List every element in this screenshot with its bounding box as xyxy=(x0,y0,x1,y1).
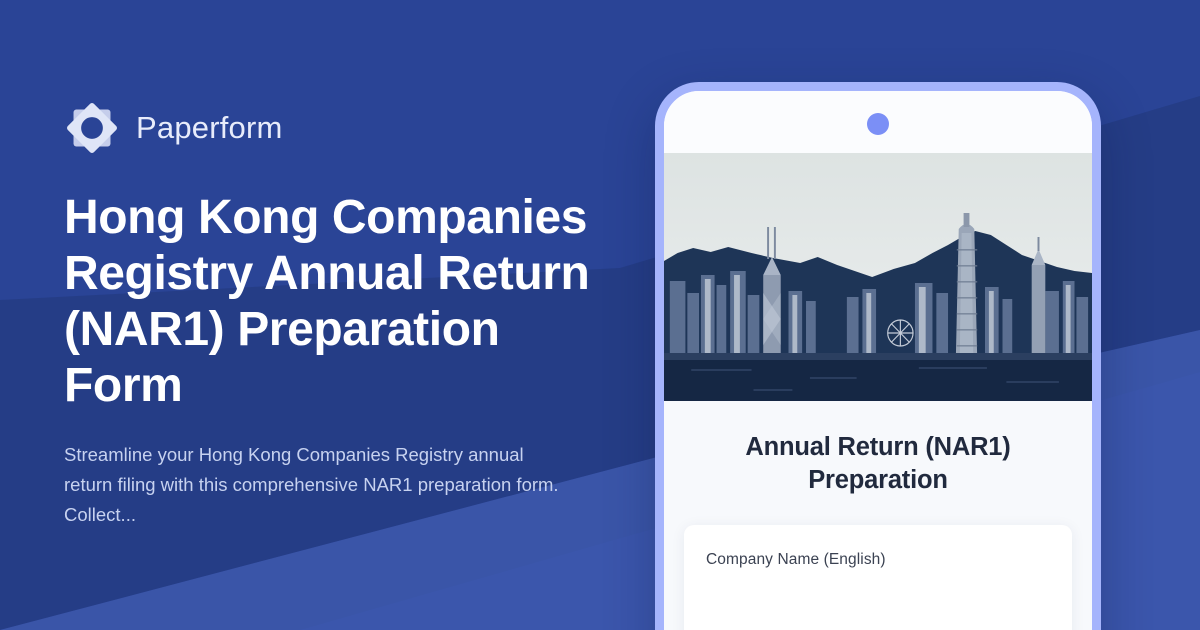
observation-wheel xyxy=(888,320,913,346)
brand-row: Paperform xyxy=(64,100,624,156)
phone-notch-area xyxy=(664,91,1092,153)
company-name-label: Company Name (English) xyxy=(706,551,1050,569)
form-field-card: Company Name (English) xyxy=(684,525,1072,630)
harbour-water xyxy=(664,360,1092,401)
phone-mockup: Annual Return (NAR1) Preparation Company… xyxy=(655,82,1101,630)
brand-name: Paperform xyxy=(136,110,283,146)
camera-dot-icon xyxy=(867,113,889,135)
paperform-star-logo-icon xyxy=(64,100,120,156)
form-title: Annual Return (NAR1) Preparation xyxy=(684,431,1072,497)
hero-content: Paperform Hong Kong Companies Registry A… xyxy=(64,0,624,630)
page-description: Streamline your Hong Kong Companies Regi… xyxy=(64,440,574,530)
form-area: Annual Return (NAR1) Preparation Company… xyxy=(664,401,1092,630)
company-name-input[interactable] xyxy=(706,613,1050,630)
page-title: Hong Kong Companies Registry Annual Retu… xyxy=(64,190,624,415)
hong-kong-skyline-illustration xyxy=(664,153,1092,401)
ifc-two-tower xyxy=(956,213,977,359)
